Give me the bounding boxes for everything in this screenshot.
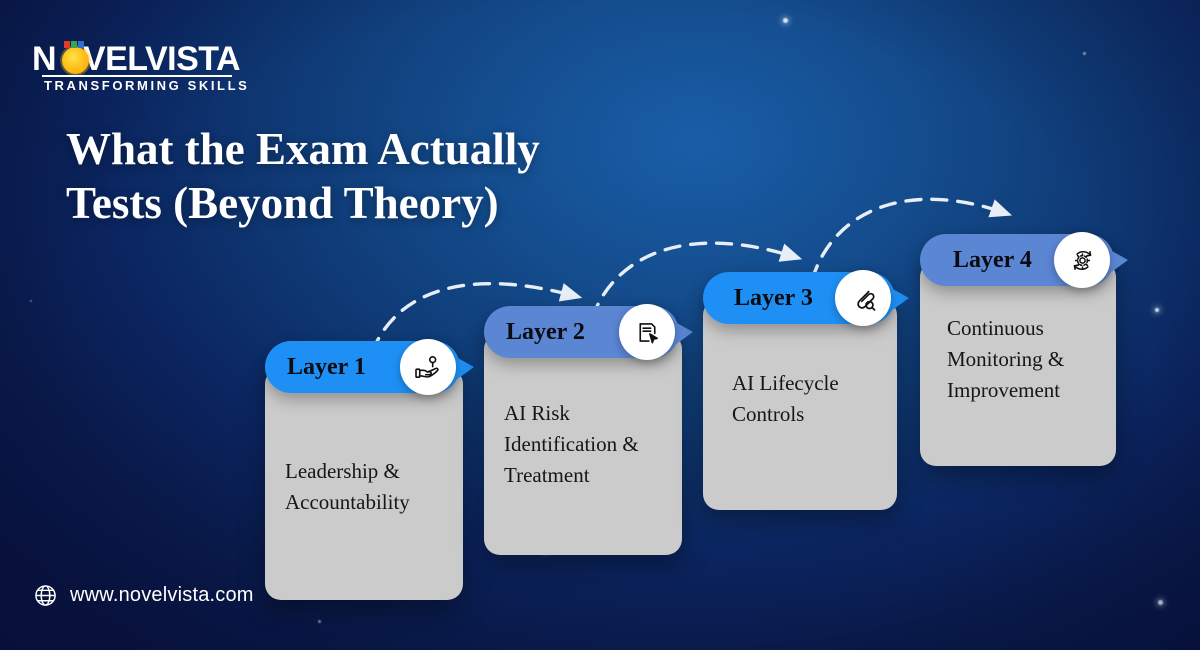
- card-badge-label-1: Layer 1: [287, 354, 366, 381]
- badge-tail: [1110, 250, 1128, 273]
- brand-tagline: TRANSFORMING SKILLS: [44, 78, 249, 93]
- logo-divider: [42, 75, 232, 77]
- globe-icon: [33, 583, 58, 608]
- slide-canvas: N VELVISTA TRANSFORMING SKILLS What the …: [0, 0, 1200, 650]
- card-badge-2[interactable]: Layer 2: [484, 306, 679, 358]
- paperclip-search-icon: [835, 270, 891, 326]
- document-cursor-icon: [619, 304, 675, 360]
- star-sparkle: [30, 300, 32, 302]
- star-sparkle: [783, 18, 788, 23]
- sun-logo-icon: [59, 41, 93, 77]
- star-sparkle: [1083, 52, 1086, 55]
- badge-tail: [891, 288, 909, 311]
- hand-holding-person-icon: [400, 339, 456, 395]
- card-badge-4[interactable]: Layer 4: [920, 234, 1114, 286]
- card-badge-label-2: Layer 2: [506, 319, 585, 346]
- card-text-3: AI Lifecycle Controls: [732, 368, 897, 430]
- star-sparkle: [318, 620, 321, 623]
- page-title: What the Exam Actually Tests (Beyond The…: [66, 122, 706, 230]
- gear-refresh-icon: [1054, 232, 1110, 288]
- brand-logo[interactable]: N VELVISTA TRANSFORMING SKILLS: [32, 42, 232, 94]
- card-badge-1[interactable]: Layer 1: [265, 341, 460, 393]
- star-sparkle: [1155, 308, 1159, 312]
- card-badge-label-3: Layer 3: [734, 285, 813, 312]
- footer-website[interactable]: www.novelvista.com: [33, 583, 254, 608]
- star-sparkle: [1158, 600, 1163, 605]
- badge-tail: [675, 322, 693, 345]
- footer-url-text: www.novelvista.com: [70, 584, 254, 607]
- card-text-1: Leadership & Accountability: [285, 456, 455, 518]
- card-text-4: Continuous Monitoring & Improvement: [947, 313, 1119, 406]
- card-badge-label-4: Layer 4: [953, 247, 1032, 274]
- card-text-2: AI Risk Identification & Treatment: [504, 398, 679, 491]
- badge-tail: [456, 357, 474, 380]
- card-badge-3[interactable]: Layer 3: [703, 272, 895, 324]
